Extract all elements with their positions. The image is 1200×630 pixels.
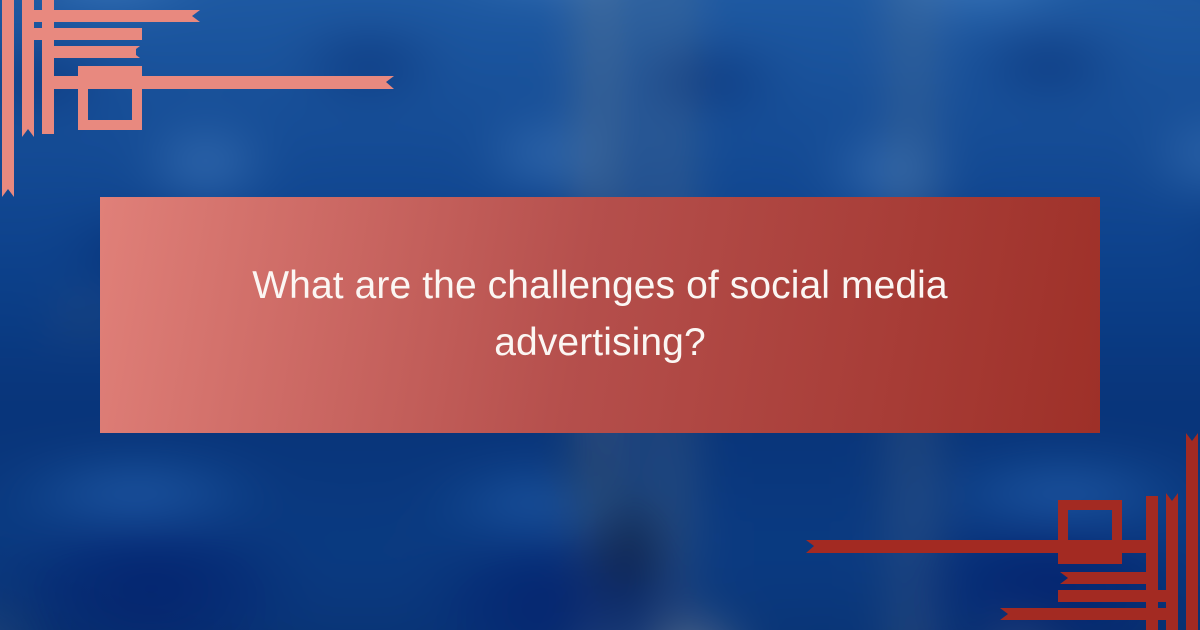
corner-accent-line-bottom [796, 540, 1146, 554]
corner-frame-top-left [0, 0, 210, 210]
page-title: What are the challenges of social media … [250, 258, 950, 371]
headline-panel: What are the challenges of social media … [100, 197, 1100, 433]
corner-frame-bottom-right [990, 420, 1200, 630]
corner-accent-line-top [54, 76, 404, 90]
social-card-canvas: What are the challenges of social media … [0, 0, 1200, 630]
